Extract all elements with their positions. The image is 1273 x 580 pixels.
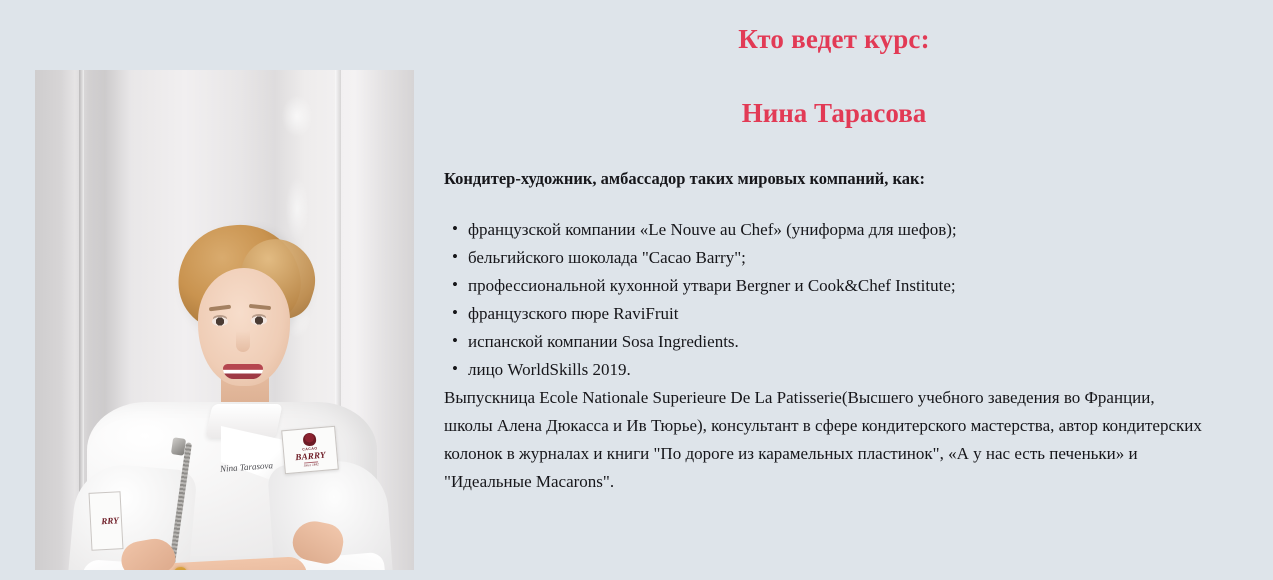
- jacket-zipper-pull: [171, 437, 186, 456]
- instructor-details: Кто ведет курс: Нина Тарасова Кондитер-х…: [444, 0, 1224, 496]
- list-item: французского пюре RaviFruit: [444, 300, 1224, 328]
- cocoa-pod-icon: [302, 432, 316, 446]
- mouth: [223, 364, 263, 379]
- nose: [236, 324, 250, 352]
- eye-right: [251, 316, 267, 325]
- brand-ambassador-list: французской компании «Le Nouve au Chef» …: [444, 216, 1224, 384]
- portrait-image: CACAO BARRY Since 1842 Nina Tarasova RRY: [35, 70, 414, 570]
- instructor-subtitle: Кондитер-художник, амбассадор таких миро…: [444, 168, 1224, 190]
- list-item: испанской компании Sosa Ingredients.: [444, 328, 1224, 356]
- list-item: профессиональной кухонной утвари Bergner…: [444, 272, 1224, 300]
- list-item: французской компании «Le Nouve au Chef» …: [444, 216, 1224, 244]
- list-item: бельгийского шоколада "Cacao Barry";: [444, 244, 1224, 272]
- eye-left: [212, 317, 228, 326]
- section-title: Кто ведет курс:: [444, 22, 1224, 56]
- cacao-barry-sleeve-badge: RRY: [89, 491, 124, 551]
- instructor-photo: CACAO BARRY Since 1842 Nina Tarasova RRY: [35, 70, 414, 570]
- instructor-biography: Выпускница Ecole Nationale Superieure De…: [444, 384, 1206, 496]
- list-item: лицо WorldSkills 2019.: [444, 356, 1224, 384]
- person-profile-page: CACAO BARRY Since 1842 Nina Tarasova RRY…: [0, 0, 1273, 580]
- instructor-name: Нина Тарасова: [444, 96, 1224, 130]
- sleeve-badge-text: RRY: [101, 515, 119, 526]
- badge-bottom-text: Since 1842: [304, 461, 319, 468]
- badge-main-text: BARRY: [295, 450, 326, 462]
- cacao-barry-chest-badge: CACAO BARRY Since 1842: [281, 426, 339, 475]
